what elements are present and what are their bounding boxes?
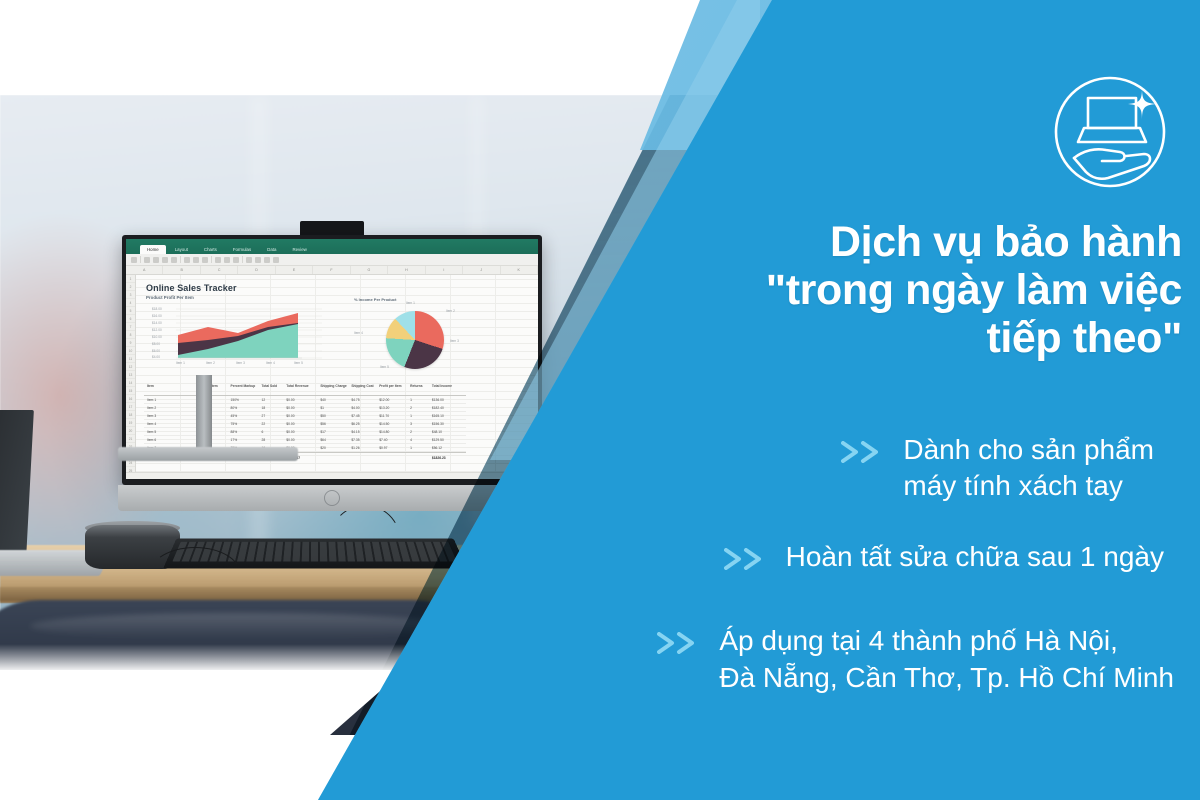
table-row[interactable]: Item 5$6.2588%6$0.00$17$4.15$14.802$48.1… xyxy=(144,428,466,436)
table-cell[interactable]: 75% xyxy=(228,422,259,426)
row-header[interactable]: 14 xyxy=(126,379,135,387)
pie-graphic xyxy=(386,311,444,369)
table-cell[interactable]: $7.40 xyxy=(376,438,407,442)
table-cell[interactable]: Item 1 xyxy=(144,398,193,402)
double-chevron-icon xyxy=(722,545,768,573)
table-cell[interactable]: $156.30 xyxy=(429,422,466,426)
table-cell[interactable]: 45% xyxy=(228,414,259,418)
bullet-1-line-2: máy tính xách tay xyxy=(903,470,1122,501)
table-cell[interactable]: 22 xyxy=(259,422,284,426)
pie-chart: Item 1 Item 2 Item 3 Item 4 Item 5 xyxy=(354,301,474,373)
table-cell[interactable]: $0.00 xyxy=(283,438,317,442)
tab-review[interactable]: Review xyxy=(285,245,313,254)
underline-icon[interactable] xyxy=(171,257,177,263)
table-cell[interactable]: 1 xyxy=(407,414,429,418)
status-bar xyxy=(126,472,538,479)
bullet-item-3: Áp dụng tại 4 thành phố Hà Nội, Đà Nẵng,… xyxy=(484,623,1174,696)
delete-icon[interactable] xyxy=(264,257,270,263)
row-header[interactable]: 9 xyxy=(126,339,135,347)
th-total-sold: Total Sold xyxy=(259,384,284,388)
align-right-icon[interactable] xyxy=(202,257,208,263)
row-header[interactable]: 16 xyxy=(126,395,135,403)
tab-data[interactable]: Data xyxy=(260,245,283,254)
table-cell[interactable]: $7.35 xyxy=(348,438,376,442)
table-cell[interactable]: $12.00 xyxy=(376,398,407,402)
table-cell[interactable]: $4.75 xyxy=(348,398,376,402)
headline-line-2: "trong ngày làm việc xyxy=(562,266,1182,314)
table-cell[interactable]: $0.00 xyxy=(283,414,317,418)
row-header[interactable]: 1 xyxy=(126,275,135,283)
th-profit-per-item: Profit per Item xyxy=(376,384,407,388)
sheet-title: Online Sales Tracker xyxy=(146,283,237,293)
table-cell[interactable]: $182.40 xyxy=(429,406,466,410)
tab-home[interactable]: Home xyxy=(140,245,166,254)
table-cell[interactable]: $1.26 xyxy=(348,446,376,450)
row-header[interactable]: 5 xyxy=(126,307,135,315)
table-cell[interactable]: $56 xyxy=(317,422,348,426)
table-cell[interactable]: $0.00 xyxy=(283,430,317,434)
table-cell[interactable]: 4 xyxy=(407,438,429,442)
row-header[interactable]: 21 xyxy=(126,435,135,443)
table-body: Item 1$18.00150%12$0.00$40$4.75$12.001$1… xyxy=(144,396,466,452)
row-header[interactable]: 13 xyxy=(126,371,135,379)
table-cell[interactable]: 80% xyxy=(228,406,259,410)
th-shipping-cost: Shipping Cost xyxy=(348,384,376,388)
currency-icon[interactable] xyxy=(224,257,230,263)
chair-highlight xyxy=(30,613,450,639)
total-income: $1826.23 xyxy=(429,456,466,460)
pie-label-1: Item 2 xyxy=(446,309,455,313)
th-shipping-charge: Shipping Charge xyxy=(317,384,348,388)
bullet-item-1: Dành cho sản phẩm máy tính xách tay xyxy=(484,432,1154,505)
col-b[interactable]: B xyxy=(163,266,200,274)
pie-label-0: Item 1 xyxy=(406,301,415,305)
table-cell[interactable]: $4.00 xyxy=(348,406,376,410)
table-cell[interactable]: 1 xyxy=(407,446,429,450)
table-cell[interactable]: $4.15 xyxy=(348,430,376,434)
monitor-base xyxy=(118,447,298,461)
y-tick-2: $14.00 xyxy=(152,321,162,325)
bullet-2-line-1: Hoàn tất sửa chữa sau 1 ngày xyxy=(786,541,1164,572)
table-cell[interactable]: $0.00 xyxy=(283,398,317,402)
table-cell[interactable]: $1 xyxy=(317,406,348,410)
table-cell[interactable]: Item 5 xyxy=(144,430,193,434)
area-chart: $18.00 $16.00 $14.00 $12.00 $10.00 $8.00… xyxy=(152,305,322,367)
insert-icon[interactable] xyxy=(255,257,261,263)
col-g[interactable]: G xyxy=(351,266,388,274)
pie-label-3: Item 4 xyxy=(354,331,363,335)
y-tick-4: $10.00 xyxy=(152,335,162,339)
service-logo xyxy=(1040,62,1180,202)
table-cell[interactable]: $0.97 xyxy=(376,446,407,450)
row-header[interactable]: 18 xyxy=(126,411,135,419)
table-cell[interactable]: $56.12 xyxy=(429,446,466,450)
x-tick-2: Item 3 xyxy=(236,361,245,365)
x-tick-3: Item 4 xyxy=(266,361,275,365)
th-percent-markup: Percent Markup xyxy=(228,384,259,388)
col-h[interactable]: H xyxy=(388,266,425,274)
headline-line-3: tiếp theo" xyxy=(562,314,1182,362)
table-cell[interactable]: Item 2 xyxy=(144,406,193,410)
hand-holding-laptop-sparkle-icon xyxy=(1040,62,1180,202)
table-cell[interactable]: Item 4 xyxy=(144,422,193,426)
monitor-screen: Home Layout Charts Formulas Data Review xyxy=(126,239,538,479)
table-cell[interactable]: $20 xyxy=(317,446,348,450)
table-row[interactable]: Item 4$16.0075%22$0.00$56$6.25$14.503$15… xyxy=(144,420,466,428)
row-header[interactable]: 20 xyxy=(126,427,135,435)
col-k[interactable]: K xyxy=(501,266,538,274)
pie-label-4: Item 5 xyxy=(380,365,389,369)
table-row[interactable]: Item 6$8.2517%28$0.00$64$7.35$7.404$129.… xyxy=(144,436,466,444)
sort-icon[interactable] xyxy=(273,257,279,263)
promo-banner: Home Layout Charts Formulas Data Review xyxy=(0,0,1200,800)
row-header[interactable]: 4 xyxy=(126,299,135,307)
column-headers: A B C D E F G H I J K xyxy=(126,266,538,275)
x-tick-4: Item 5 xyxy=(294,361,303,365)
row-header[interactable]: 6 xyxy=(126,315,135,323)
bullet-list: Dành cho sản phẩm máy tính xách tay Hoàn… xyxy=(484,432,1184,722)
conditional-format-icon[interactable] xyxy=(246,257,252,263)
table-cell[interactable]: 2 xyxy=(407,430,429,434)
percent-icon[interactable] xyxy=(233,257,239,263)
row-header[interactable]: 3 xyxy=(126,291,135,299)
table-row[interactable]: Item 3$17.0045%27$0.00$50$7.45$11.701$16… xyxy=(144,412,466,420)
th-returns: Returns xyxy=(407,384,429,388)
headline: Dịch vụ bảo hành "trong ngày làm việc ti… xyxy=(562,218,1182,362)
table-cell[interactable]: 6 xyxy=(259,430,284,434)
bottom-white-fade xyxy=(0,644,430,670)
row-header[interactable]: 2 xyxy=(126,283,135,291)
y-tick-6: $6.00 xyxy=(152,349,160,353)
col-d[interactable]: D xyxy=(238,266,275,274)
bullet-text-3: Áp dụng tại 4 thành phố Hà Nội, Đà Nẵng,… xyxy=(719,623,1174,696)
table-cell[interactable]: 1 xyxy=(407,398,429,402)
table-cell[interactable]: $0.00 xyxy=(283,422,317,426)
table-cell[interactable]: 3 xyxy=(407,422,429,426)
double-chevron-icon xyxy=(655,629,701,657)
table-cell[interactable]: $136.00 xyxy=(429,398,466,402)
table-cell[interactable]: 17% xyxy=(228,438,259,442)
y-tick-5: $8.00 xyxy=(152,342,160,346)
table-cell[interactable]: 27 xyxy=(259,414,284,418)
table-cell[interactable]: $0.00 xyxy=(283,406,317,410)
table-cell[interactable]: Item 6 xyxy=(144,438,193,442)
row-header[interactable]: 11 xyxy=(126,355,135,363)
align-center-icon[interactable] xyxy=(193,257,199,263)
bold-icon[interactable] xyxy=(153,257,159,263)
row-header[interactable]: 12 xyxy=(126,363,135,371)
x-tick-0: Item 1 xyxy=(176,361,185,365)
double-chevron-icon xyxy=(839,438,885,466)
table-row[interactable]: Item 2$14.0080%18$0.00$1$4.00$13.202$182… xyxy=(144,404,466,412)
table-cell[interactable]: $48.10 xyxy=(429,430,466,434)
bullet-text-1: Dành cho sản phẩm máy tính xách tay xyxy=(903,432,1154,505)
table-cell[interactable]: $6.25 xyxy=(348,422,376,426)
sheet-subtitle: Product Profit Per Item xyxy=(146,295,194,300)
x-tick-1: Item 2 xyxy=(206,361,215,365)
table-cell[interactable]: $7.45 xyxy=(348,414,376,418)
italic-icon[interactable] xyxy=(162,257,168,263)
y-tick-3: $12.00 xyxy=(152,328,162,332)
col-a[interactable]: A xyxy=(126,266,163,274)
col-i[interactable]: I xyxy=(426,266,463,274)
col-f[interactable]: F xyxy=(313,266,350,274)
row-header[interactable]: 8 xyxy=(126,331,135,339)
table-cell[interactable]: $13.20 xyxy=(376,406,407,410)
hp-logo-icon xyxy=(324,490,340,506)
th-total-income: Total Income xyxy=(429,384,466,388)
table-cell[interactable]: $50 xyxy=(317,414,348,418)
table-cell[interactable]: $11.70 xyxy=(376,414,407,418)
headline-line-1: Dịch vụ bảo hành xyxy=(562,218,1182,266)
bullet-item-2: Hoàn tất sửa chữa sau 1 ngày xyxy=(484,539,1164,575)
align-left-icon[interactable] xyxy=(184,257,190,263)
th-total-revenue: Total Revenue xyxy=(283,384,317,388)
bullet-text-2: Hoàn tất sửa chữa sau 1 ngày xyxy=(786,539,1164,575)
table-cell[interactable]: 28 xyxy=(259,438,284,442)
table-cell[interactable]: $129.50 xyxy=(429,438,466,442)
table-cell[interactable]: Item 3 xyxy=(144,414,193,418)
row-header[interactable]: 7 xyxy=(126,323,135,331)
table-cell[interactable]: $17 xyxy=(317,430,348,434)
font-icon[interactable] xyxy=(144,257,150,263)
y-tick-1: $16.00 xyxy=(152,314,162,318)
table-cell[interactable]: 88% xyxy=(228,430,259,434)
row-header[interactable]: 19 xyxy=(126,419,135,427)
tab-layout[interactable]: Layout xyxy=(168,245,195,254)
table-cell[interactable]: $40 xyxy=(317,398,348,402)
table-cell[interactable]: 150% xyxy=(228,398,259,402)
y-tick-0: $18.00 xyxy=(152,307,162,311)
bullet-3-line-1: Áp dụng tại 4 thành phố Hà Nội, xyxy=(719,625,1118,656)
merge-icon[interactable] xyxy=(215,257,221,263)
table-cell[interactable]: 18 xyxy=(259,406,284,410)
col-e[interactable]: E xyxy=(276,266,313,274)
table-header-row: Item Cost Per Item Percent Markup Total … xyxy=(144,383,466,396)
row-header[interactable]: 17 xyxy=(126,403,135,411)
paste-icon[interactable] xyxy=(131,257,137,263)
col-j[interactable]: J xyxy=(463,266,500,274)
row-header[interactable]: 10 xyxy=(126,347,135,355)
bullet-1-line-1: Dành cho sản phẩm xyxy=(903,434,1154,465)
table-cell[interactable]: $165.10 xyxy=(429,414,466,418)
col-c[interactable]: C xyxy=(201,266,238,274)
formatting-toolbar xyxy=(126,254,538,266)
spreadsheet-app: Home Layout Charts Formulas Data Review xyxy=(126,239,538,479)
ribbon-tabs: Home Layout Charts Formulas Data Review xyxy=(126,239,538,254)
table-cell[interactable]: $64 xyxy=(317,438,348,442)
tab-formulas[interactable]: Formulas xyxy=(226,245,258,254)
table-row[interactable]: Item 1$18.00150%12$0.00$40$4.75$12.001$1… xyxy=(144,396,466,404)
bullet-3-line-2: Đà Nẵng, Cần Thơ, Tp. Hồ Chí Minh xyxy=(719,662,1174,693)
table-cell[interactable]: 12 xyxy=(259,398,284,402)
desk-edge xyxy=(0,587,480,601)
monitor-stand xyxy=(196,375,212,455)
table-cell[interactable]: $14.80 xyxy=(376,430,407,434)
row-header[interactable]: 15 xyxy=(126,387,135,395)
y-tick-7: $4.00 xyxy=(152,355,160,359)
table-cell[interactable]: $14.50 xyxy=(376,422,407,426)
pie-label-2: Item 3 xyxy=(450,339,459,343)
th-item: Item xyxy=(144,384,193,388)
tab-charts[interactable]: Charts xyxy=(197,245,224,254)
table-cell[interactable]: 2 xyxy=(407,406,429,410)
